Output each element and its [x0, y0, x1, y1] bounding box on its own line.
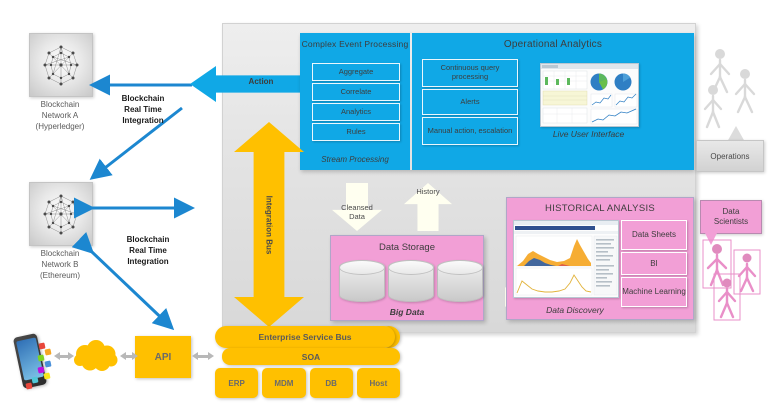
database-cylinder-icon: [339, 260, 385, 302]
cleansed-data-l2: Data: [326, 212, 388, 221]
ha-item-machine-learning[interactable]: Machine Learning: [621, 277, 687, 307]
api-box[interactable]: API: [135, 336, 191, 378]
cep-title: Complex Event Processing: [300, 39, 410, 49]
database-cylinder-icon: [437, 260, 483, 302]
bc-int-bot-l1: Blockchain: [110, 235, 186, 246]
operations-callout[interactable]: Operations: [696, 140, 764, 172]
history-arrow-label: History: [396, 187, 460, 196]
cleansed-data-arrow-label: Cleansed Data: [326, 203, 388, 222]
operations-label: Operations: [710, 152, 749, 161]
data-scientists-callout[interactable]: Data Scientists: [700, 200, 762, 234]
cep-item-correlate-label: Correlate: [341, 88, 372, 97]
enterprise-service-bus[interactable]: Enterprise Service Bus: [215, 326, 395, 348]
stream-processing-band: Complex Event Processing Aggregate Corre…: [300, 33, 694, 170]
phone-cloud-connector: [54, 352, 74, 361]
blockchain-integration-label-bottom: Blockchain Real Time Integration: [110, 235, 186, 267]
integration-bus-arrow: Integration Bus: [234, 122, 304, 327]
action-arrow: Action: [190, 66, 302, 102]
oa-item-alerts-label: Alerts: [460, 98, 479, 107]
ha-item-data-sheets[interactable]: Data Sheets: [621, 220, 687, 250]
cep-item-correlate[interactable]: Correlate: [312, 83, 400, 101]
big-data-label: Big Data: [331, 307, 483, 317]
bc-int-bot-l3: Integration: [110, 257, 186, 268]
historical-analysis-panel: HISTORICAL ANALYSIS: [506, 197, 694, 320]
cep-item-aggregate[interactable]: Aggregate: [312, 63, 400, 81]
ha-item-bi[interactable]: BI: [621, 252, 687, 275]
connector-bar: [196, 355, 210, 358]
backend-db[interactable]: DB: [310, 368, 353, 398]
cleansed-data-l1: Cleansed: [326, 203, 388, 212]
smartphone-icon: [12, 333, 54, 395]
soa-label: SOA: [302, 352, 320, 362]
backend-host-label: Host: [369, 379, 387, 388]
operational-analytics-panel: Operational Analytics Continuous query p…: [412, 33, 694, 170]
cep-item-rules-label: Rules: [346, 128, 365, 137]
backend-mdm-label: MDM: [274, 379, 293, 388]
soa-bar[interactable]: SOA: [222, 348, 400, 365]
data-storage-cylinders: [339, 260, 483, 302]
data-discovery-thumbnail[interactable]: [513, 220, 619, 298]
cep-item-rules[interactable]: Rules: [312, 123, 400, 141]
connector-bar: [58, 355, 70, 358]
oa-item-cqp-label: Continuous query processing: [423, 64, 517, 81]
backend-erp-label: ERP: [228, 379, 244, 388]
bc-int-top-l2: Real Time: [105, 105, 181, 116]
app-icon-dot: [44, 360, 51, 367]
data-storage-panel: Data Storage Big Data: [330, 235, 484, 321]
app-icon-dot: [37, 354, 44, 361]
backend-erp[interactable]: ERP: [215, 368, 258, 398]
live-dashboard-thumbnail[interactable]: [540, 63, 639, 127]
history-arrow: History: [404, 183, 452, 231]
esb-label: Enterprise Service Bus: [258, 332, 351, 342]
ha-item-bi-label: BI: [650, 259, 658, 269]
cloud-api-connector: [120, 352, 138, 361]
blockchain-integration-label-top: Blockchain Real Time Integration: [105, 94, 181, 126]
bc-int-top-l1: Blockchain: [105, 94, 181, 105]
data-scientists-label-l2: Scientists: [714, 217, 748, 227]
integration-bus-label: Integration Bus: [265, 195, 274, 254]
bc-int-bot-l2: Real Time: [110, 246, 186, 257]
live-user-interface-caption: Live User Interface: [538, 129, 639, 139]
oa-item-alerts[interactable]: Alerts: [422, 89, 518, 115]
cleansed-data-arrow: Cleansed Data: [332, 183, 382, 231]
api-label: API: [155, 352, 172, 363]
database-cylinder-icon: [388, 260, 434, 302]
backend-mdm[interactable]: MDM: [262, 368, 305, 398]
data-scientists-label-l1: Data: [714, 207, 748, 217]
app-icon-dot: [44, 348, 51, 355]
ha-item-machine-learning-label: Machine Learning: [622, 287, 686, 297]
cep-item-analytics-label: Analytics: [341, 108, 371, 117]
api-esb-connector: [192, 352, 214, 361]
app-icon-dot: [31, 376, 38, 383]
data-storage-title: Data Storage: [331, 242, 483, 253]
backend-host[interactable]: Host: [357, 368, 400, 398]
complex-event-processing-panel: Complex Event Processing Aggregate Corre…: [300, 33, 410, 170]
oa-item-continuous-query-processing[interactable]: Continuous query processing: [422, 59, 518, 87]
cloud-icon: [72, 340, 122, 373]
cep-item-analytics[interactable]: Analytics: [312, 103, 400, 121]
data-discovery-label: Data Discovery: [529, 305, 621, 315]
connector-bar: [124, 355, 134, 358]
historical-analysis-title: HISTORICAL ANALYSIS: [507, 203, 693, 214]
backend-db-label: DB: [325, 379, 337, 388]
oa-title: Operational Analytics: [412, 39, 694, 50]
cep-item-aggregate-label: Aggregate: [339, 68, 374, 77]
app-icon-dot: [25, 382, 32, 389]
data-scientists-people-group: [698, 238, 768, 324]
ha-item-data-sheets-label: Data Sheets: [632, 230, 676, 240]
oa-item-manual-action-escalation[interactable]: Manual action, escalation: [422, 117, 518, 145]
operations-people-group: [700, 42, 770, 134]
cep-footer: Stream Processing: [300, 155, 410, 164]
bc-int-top-l3: Integration: [105, 116, 181, 127]
app-icon-dot: [43, 372, 50, 379]
oa-item-manual-label: Manual action, escalation: [428, 127, 513, 136]
backend-systems-row: ERP MDM DB Host: [215, 368, 400, 398]
action-arrow-label: Action: [224, 77, 298, 86]
